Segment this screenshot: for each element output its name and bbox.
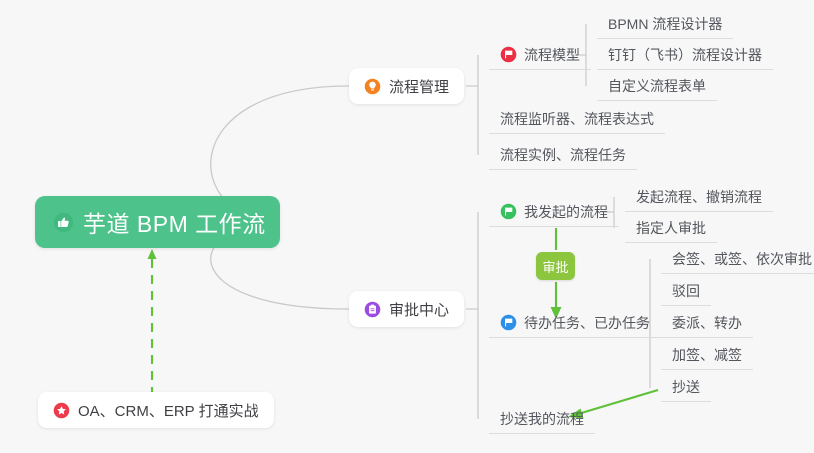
node-label: 自定义流程表单: [608, 76, 706, 96]
node-label: 流程监听器、流程表达式: [500, 109, 654, 129]
star-icon: [53, 402, 70, 419]
node-cc-to-me[interactable]: 抄送我的流程: [489, 404, 595, 434]
node-bpmn-designer[interactable]: BPMN 流程设计器: [597, 9, 733, 39]
flag-icon: [500, 203, 517, 220]
node-start-cancel-process[interactable]: 发起流程、撤销流程: [625, 182, 773, 212]
node-my-initiated[interactable]: 我发起的流程: [489, 197, 619, 227]
node-label: 驳回: [672, 281, 700, 301]
flag-icon: [500, 46, 517, 63]
node-label: 待办任务、已办任务: [524, 313, 650, 333]
node-dingtalk-designer[interactable]: 钉钉（飞书）流程设计器: [597, 40, 773, 70]
lightbulb-icon: [364, 78, 381, 95]
footer-node-integration[interactable]: OA、CRM、ERP 打通实战: [38, 392, 274, 428]
node-assigned-approval[interactable]: 指定人审批: [625, 213, 717, 243]
branch-label: 流程管理: [389, 76, 449, 97]
node-label: 委派、转办: [672, 313, 742, 333]
node-label: 我发起的流程: [524, 202, 608, 222]
node-reject[interactable]: 驳回: [661, 276, 711, 306]
node-process-listener[interactable]: 流程监听器、流程表达式: [489, 104, 665, 134]
node-todo-done-tasks[interactable]: 待办任务、已办任务: [489, 308, 661, 338]
node-cc[interactable]: 抄送: [661, 372, 711, 402]
node-label: 抄送: [672, 377, 700, 397]
node-label: 流程实例、流程任务: [500, 145, 626, 165]
node-label: 钉钉（飞书）流程设计器: [608, 45, 762, 65]
clipboard-icon: [364, 301, 381, 318]
approval-badge-label: 审批: [542, 257, 568, 276]
node-label: 指定人审批: [636, 218, 706, 238]
branch-approval-center[interactable]: 审批中心: [349, 291, 464, 327]
node-custom-form[interactable]: 自定义流程表单: [597, 71, 717, 101]
mindmap-canvas: 芋道 BPM 工作流 流程管理 流程模型 BPMN 流程设计器 钉钉（飞书）流程…: [0, 0, 814, 453]
footer-node-label: OA、CRM、ERP 打通实战: [78, 400, 259, 421]
branch-label: 审批中心: [389, 299, 449, 320]
node-label: 会签、或签、依次审批: [672, 249, 812, 269]
root-node[interactable]: 芋道 BPM 工作流: [35, 196, 280, 248]
node-label: 抄送我的流程: [500, 409, 584, 429]
approval-badge[interactable]: 审批: [536, 252, 575, 280]
node-label: BPMN 流程设计器: [608, 14, 722, 34]
node-delegate-transfer[interactable]: 委派、转办: [661, 308, 753, 338]
branch-process-management[interactable]: 流程管理: [349, 68, 464, 104]
node-process-model[interactable]: 流程模型: [489, 40, 591, 70]
node-add-remove-sign[interactable]: 加签、减签: [661, 340, 753, 370]
node-label: 流程模型: [524, 45, 580, 65]
node-countersign[interactable]: 会签、或签、依次审批: [661, 244, 814, 274]
node-label: 发起流程、撤销流程: [636, 187, 762, 207]
node-label: 加签、减签: [672, 345, 742, 365]
flag-icon: [500, 314, 517, 331]
node-process-instance[interactable]: 流程实例、流程任务: [489, 140, 637, 170]
root-label: 芋道 BPM 工作流: [83, 205, 266, 239]
thumbs-up-icon: [53, 212, 74, 233]
